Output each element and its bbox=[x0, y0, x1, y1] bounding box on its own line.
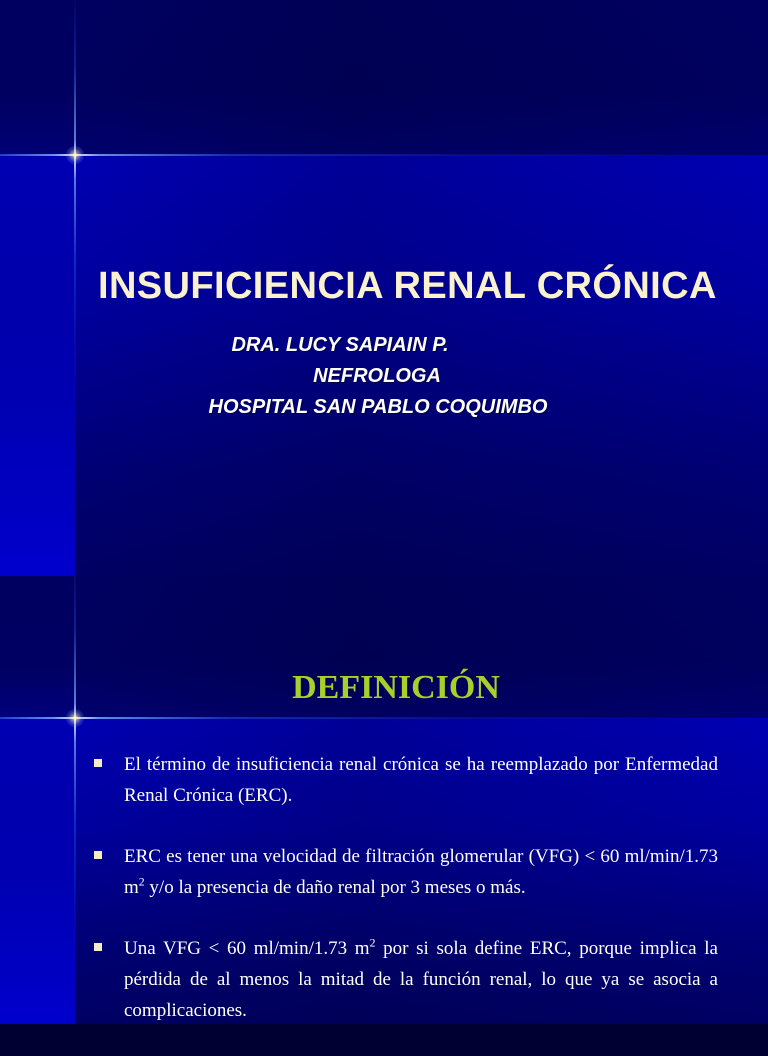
slide-title: INSUFICIENCIA RENAL CRÓNICA DRA. LUCY SA… bbox=[0, 0, 768, 576]
slide1-background-left-column bbox=[0, 0, 75, 576]
list-item: El término de insuficiencia renal crónic… bbox=[94, 749, 718, 811]
definition-bullet-list: El término de insuficiencia renal crónic… bbox=[94, 749, 718, 1056]
section-heading: DEFINICIÓN bbox=[0, 668, 768, 708]
slide-deck: INSUFICIENCIA RENAL CRÓNICA DRA. LUCY SA… bbox=[0, 0, 768, 1024]
list-item-text-part1: El término de insuficiencia renal crónic… bbox=[124, 754, 718, 806]
presenter-block: DRA. LUCY SAPIAIN P. NEFROLOGA HOSPITAL … bbox=[0, 330, 768, 423]
list-item-text-part2: y/o la presencia de daño renal por 3 mes… bbox=[145, 877, 526, 898]
list-item-text: ERC es tener una velocidad de filtración… bbox=[124, 841, 718, 903]
bullet-square-icon bbox=[94, 759, 102, 767]
list-item-text-part1: Una VFG < 60 ml/min/1.73 m bbox=[124, 938, 370, 959]
presenter-institution: HOSPITAL SAN PABLO COQUIMBO bbox=[0, 392, 768, 423]
bullet-square-icon bbox=[94, 943, 102, 951]
presenter-role: NEFROLOGA bbox=[0, 361, 768, 392]
list-item: ERC es tener una velocidad de filtración… bbox=[94, 841, 718, 903]
list-item: Una VFG < 60 ml/min/1.73 m2 por si sola … bbox=[94, 933, 718, 1026]
presenter-name: DRA. LUCY SAPIAIN P. bbox=[0, 330, 768, 361]
list-item-text: El término de insuficiencia renal crónic… bbox=[124, 749, 718, 811]
bullet-square-icon bbox=[94, 851, 102, 859]
slide2-background-left-column bbox=[0, 576, 75, 1024]
list-item-text: Una VFG < 60 ml/min/1.73 m2 por si sola … bbox=[124, 933, 718, 1026]
page-title: INSUFICIENCIA RENAL CRÓNICA bbox=[98, 264, 717, 308]
